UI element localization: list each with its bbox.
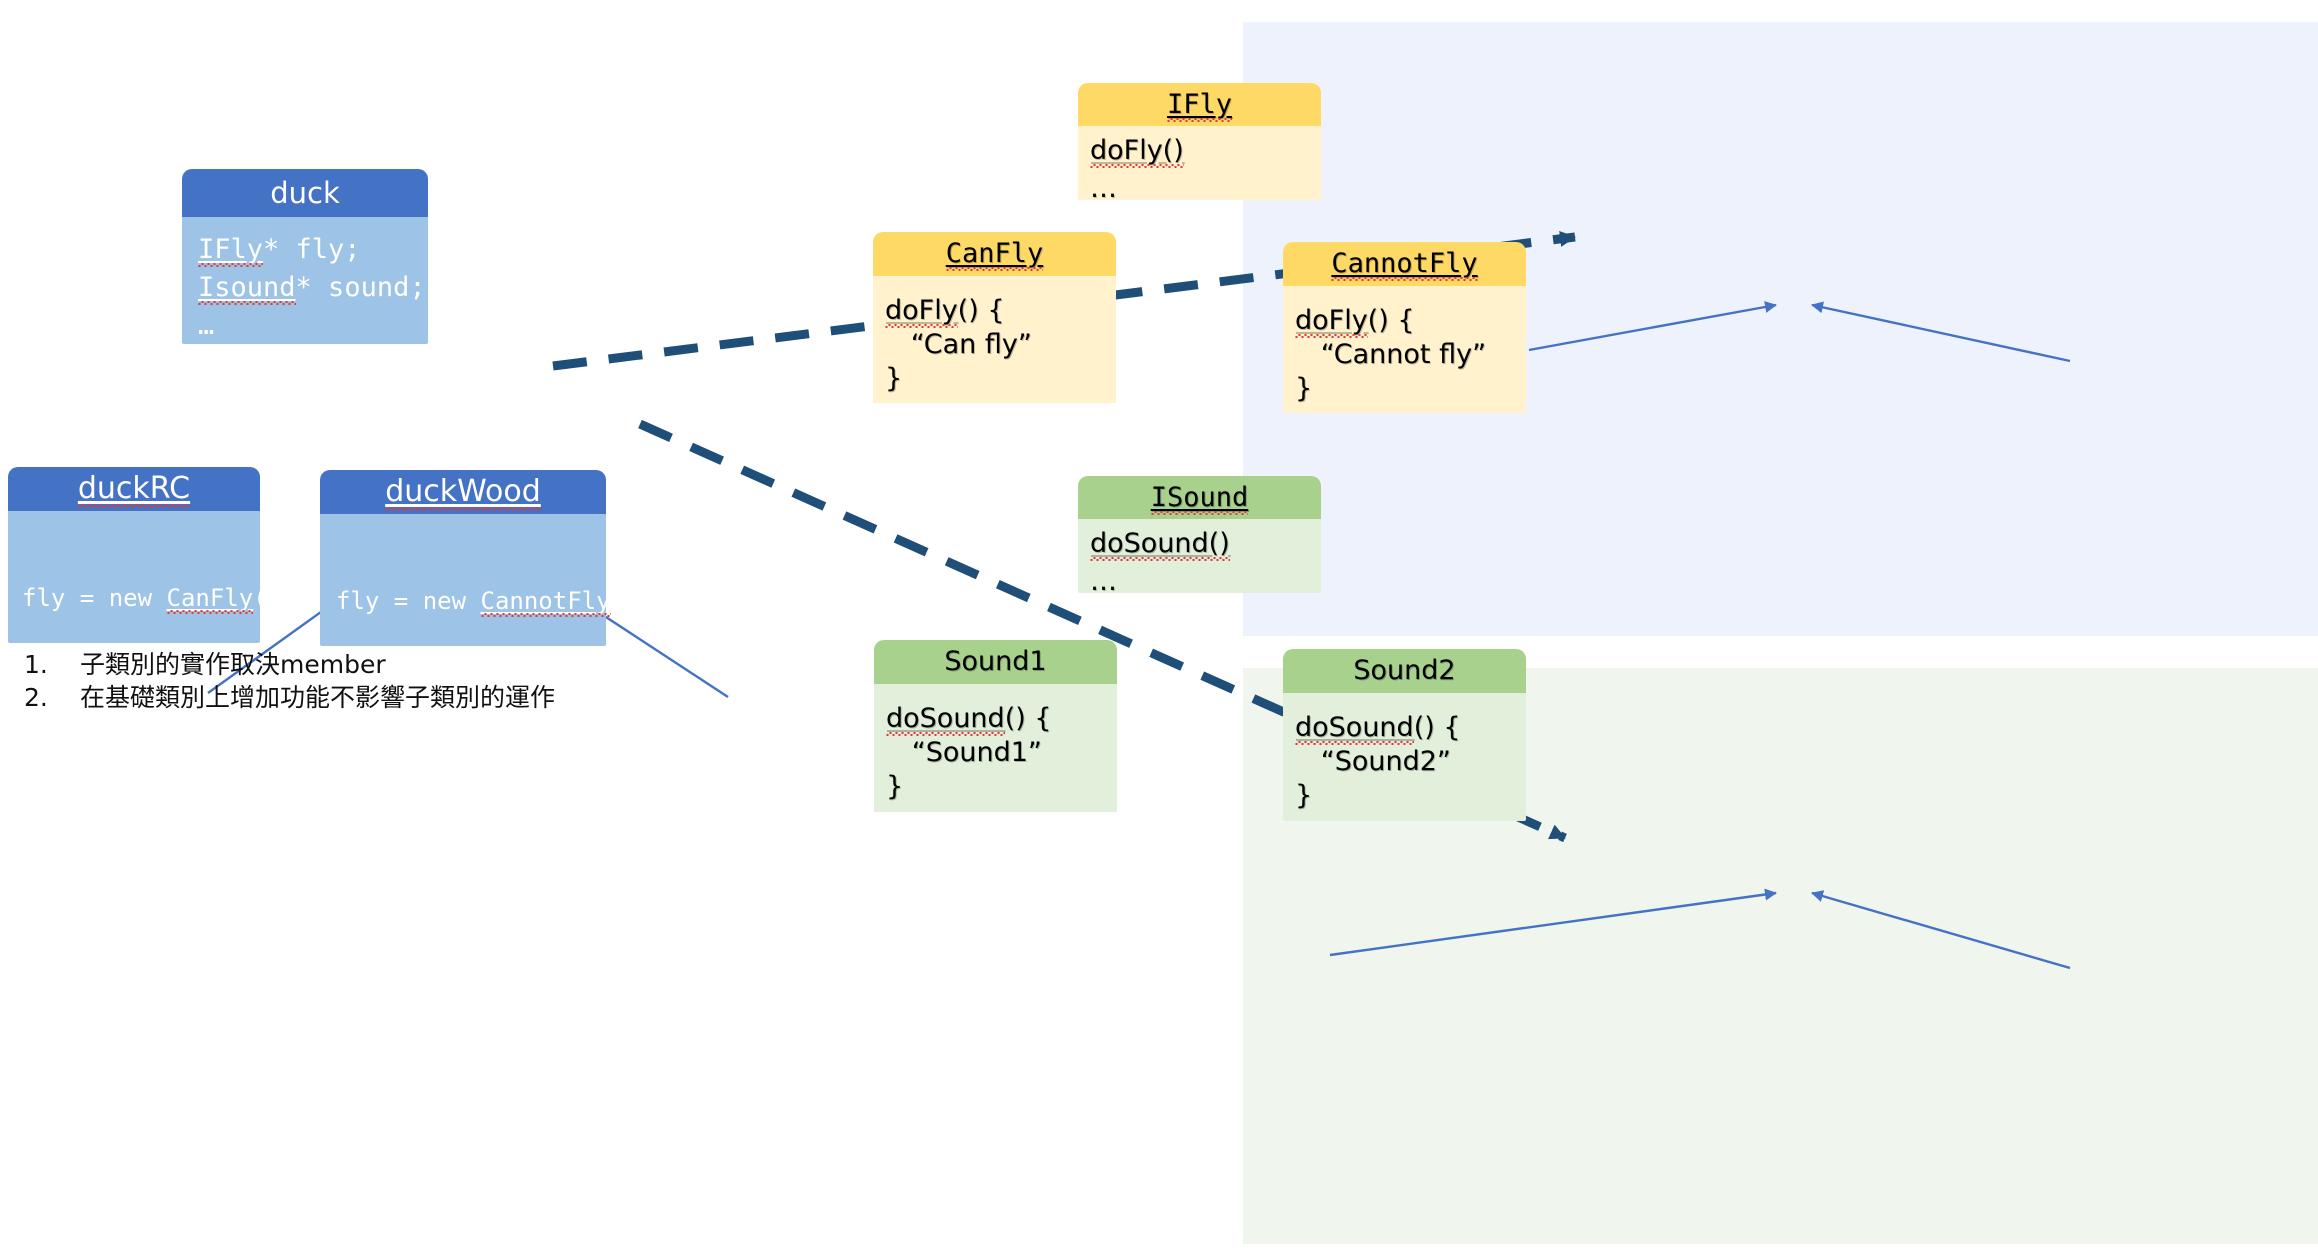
class-box-isound[interactable]: ISound doSound()… <box>1078 476 1321 593</box>
class-body-isound: doSound()… <box>1078 519 1321 593</box>
member-line-sound: Isound* sound; <box>198 272 426 303</box>
notes-list: 1. 子類別的實作取決member 2. 在基礎類別上增加功能不影響子類別的運作 <box>24 648 744 714</box>
class-title-duckrc-text: duckRC <box>78 471 190 506</box>
type-ref-ifly: IFly <box>198 234 263 265</box>
method-ellipsis-ifly: … <box>1090 173 1118 204</box>
note-text: 子類別的實作取決member <box>80 648 744 681</box>
method-close-sound1: } <box>886 771 903 802</box>
class-box-duck[interactable]: duck IFly* fly;Isound* sound;… <box>182 169 428 344</box>
assign-suffix-duckwood: () <box>611 587 640 615</box>
method-dosound-isound: doSound() <box>1090 528 1230 559</box>
class-box-canfly[interactable]: CanFly doFly() { “Can fly”} <box>873 232 1116 403</box>
class-title-sound1: Sound1 <box>874 640 1117 684</box>
method-body-sound2: “Sound2” <box>1295 746 1451 777</box>
method-dofly-cannotfly: doFly <box>1295 305 1368 336</box>
type-ref-canfly: CanFly <box>167 584 254 612</box>
assign-prefix-duckrc: fly = new <box>22 584 167 612</box>
method-dosound-sound1-rest: () { <box>1005 703 1052 734</box>
method-dofly-ifly: doFly() <box>1090 135 1184 166</box>
member-line-fly: IFly* fly; <box>198 234 361 265</box>
class-title-duckwood-text: duckWood <box>385 474 541 509</box>
note-number: 2. <box>24 681 80 714</box>
class-title-duckwood: duckWood <box>320 470 606 514</box>
class-body-ifly: doFly()… <box>1078 126 1321 200</box>
note-item: 2. 在基礎類別上增加功能不影響子類別的運作 <box>24 681 744 714</box>
class-body-sound1: doSound() { “Sound1”} <box>874 684 1117 812</box>
class-title-duck: duck <box>182 169 428 217</box>
diagram-canvas: duck IFly* fly;Isound* sound;… duckRC fl… <box>0 0 2318 1258</box>
method-body-sound1: “Sound1” <box>886 737 1042 768</box>
method-dosound-sound2: doSound <box>1295 712 1414 743</box>
class-title-sound2: Sound2 <box>1283 649 1526 693</box>
class-body-duckrc: fly = new CanFly() <box>8 511 260 643</box>
class-title-isound: ISound <box>1078 476 1321 519</box>
method-body-cannotfly: “Cannot fly” <box>1295 339 1486 370</box>
note-item: 1. 子類別的實作取決member <box>24 648 744 681</box>
method-dofly-canfly-rest: () { <box>958 295 1005 326</box>
class-body-sound2: doSound() { “Sound2”} <box>1283 693 1526 821</box>
member-fly-rest: * fly; <box>263 234 361 265</box>
member-sound-rest: * sound; <box>296 272 426 303</box>
assign-prefix-duckwood: fly = new <box>336 587 481 615</box>
class-box-ifly[interactable]: IFly doFly()… <box>1078 83 1321 200</box>
class-body-duck: IFly* fly;Isound* sound;… <box>182 217 428 344</box>
method-dosound-sound1: doSound <box>886 703 1005 734</box>
assign-suffix-duckrc: () <box>253 584 282 612</box>
method-ellipsis-isound: … <box>1090 566 1118 597</box>
class-box-sound2[interactable]: Sound2 doSound() { “Sound2”} <box>1283 649 1526 821</box>
type-ref-cannotfly: CannotFly <box>481 587 611 615</box>
method-body-canfly: “Can fly” <box>885 329 1032 360</box>
method-dofly-cannotfly-rest: () { <box>1368 305 1415 336</box>
class-title-ifly-text: IFly <box>1167 89 1232 120</box>
class-body-duckwood: fly = new CannotFly() <box>320 514 606 646</box>
class-title-cannotfly: CannotFly <box>1283 242 1526 286</box>
note-number: 1. <box>24 648 80 681</box>
class-title-ifly: IFly <box>1078 83 1321 126</box>
type-ref-isound: Isound <box>198 272 296 303</box>
class-title-cannotfly-text: CannotFly <box>1331 248 1477 279</box>
method-close-sound2: } <box>1295 780 1312 811</box>
note-text: 在基礎類別上增加功能不影響子類別的運作 <box>80 681 744 714</box>
method-dosound-sound2-rest: () { <box>1414 712 1461 743</box>
member-ellipsis-duck: … <box>198 310 215 341</box>
class-title-isound-text: ISound <box>1151 482 1249 513</box>
method-close-canfly: } <box>885 363 902 394</box>
class-title-duckrc: duckRC <box>8 467 260 511</box>
class-box-duckrc[interactable]: duckRC fly = new CanFly() <box>8 467 260 643</box>
method-close-cannotfly: } <box>1295 373 1312 404</box>
class-box-duckwood[interactable]: duckWood fly = new CannotFly() <box>320 470 606 646</box>
class-title-canfly: CanFly <box>873 232 1116 276</box>
class-title-canfly-text: CanFly <box>946 238 1044 269</box>
method-dofly-canfly: doFly <box>885 295 958 326</box>
class-body-cannotfly: doFly() { “Cannot fly”} <box>1283 286 1526 413</box>
class-box-sound1[interactable]: Sound1 doSound() { “Sound1”} <box>874 640 1117 812</box>
class-body-canfly: doFly() { “Can fly”} <box>873 276 1116 403</box>
class-box-cannotfly[interactable]: CannotFly doFly() { “Cannot fly”} <box>1283 242 1526 413</box>
